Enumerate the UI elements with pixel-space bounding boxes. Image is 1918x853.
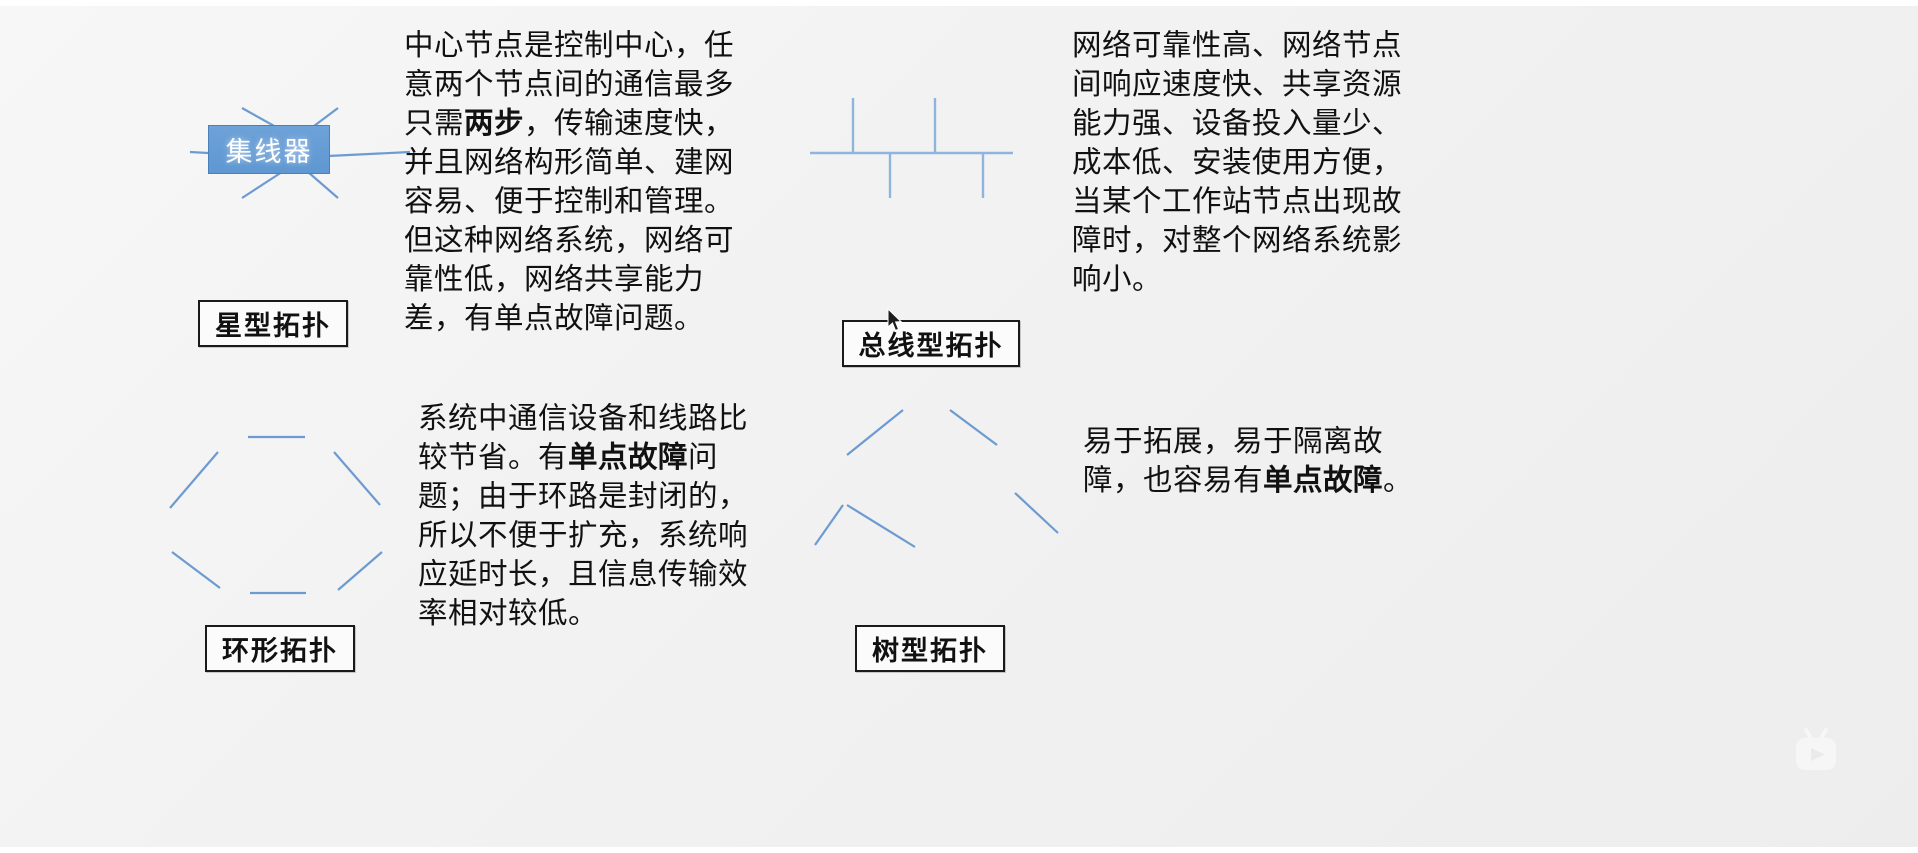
tree-topology-panel <box>775 365 1085 625</box>
tree-node-leaf-2 <box>873 545 935 599</box>
star-node-top-right <box>268 35 330 89</box>
emphasis-text: 两步 <box>464 108 524 140</box>
ring-topology-description: 系统中通信设备和线路比较节省。有单点故障问题；由于环路是封闭的，所以不便于扩充，… <box>418 400 758 634</box>
video-play-watermark-icon <box>1784 720 1848 784</box>
ring-node-left <box>126 496 188 550</box>
top-letterbox-bar <box>0 0 1918 6</box>
body-text: 。 <box>1383 465 1413 497</box>
bus-node-top-right <box>907 45 963 95</box>
ring-node-top-right <box>280 413 342 467</box>
bus-topology-caption: 总线型拓扑 <box>842 320 1020 367</box>
star-topology-description: 中心节点是控制中心，任意两个节点间的通信最多只需两步，传输速度快，并且网络构形简… <box>404 27 744 339</box>
tree-node-leaf-3 <box>1027 520 1089 574</box>
ring-node-bottom-left <box>188 565 250 619</box>
tree-node-left-branch <box>808 445 870 499</box>
emphasis-text: 单点故障 <box>568 442 688 474</box>
star-node-right <box>335 122 397 176</box>
tree-node-leaf-1 <box>785 537 847 591</box>
bus-node-bottom-right <box>955 190 1011 240</box>
star-topology-caption: 星型拓扑 <box>198 300 348 347</box>
bus-topology-panel <box>805 30 1105 310</box>
star-hub-label: 集线器 <box>226 130 313 169</box>
bus-caption-label: 总线型拓扑 <box>859 324 1004 363</box>
bus-node-bottom-left <box>842 190 898 240</box>
tree-topology-caption: 树型拓扑 <box>855 625 1005 672</box>
bus-node-top-left <box>825 45 881 95</box>
tree-topology-description: 易于拓展，易于隔离故障，也容易有单点故障。 <box>1083 423 1433 501</box>
star-hub-box: 集线器 <box>208 125 330 174</box>
ring-caption-label: 环形拓扑 <box>222 629 338 668</box>
bottom-letterbox-bar <box>0 847 1918 853</box>
tree-caption-label: 树型拓扑 <box>872 629 988 668</box>
ring-node-bottom-right <box>292 565 354 619</box>
bus-topology-description: 网络可靠性高、网络节点间响应速度快、共享资源能力强、设备投入量少、成本低、安装使… <box>1072 27 1412 300</box>
star-node-top-left <box>180 35 242 89</box>
star-caption-label: 星型拓扑 <box>215 304 331 343</box>
ring-node-top-left <box>186 413 248 467</box>
tree-node-root <box>875 370 937 424</box>
ring-topology-caption: 环形拓扑 <box>205 625 355 672</box>
mouse-pointer-icon <box>887 308 905 334</box>
star-node-bottom-right <box>280 187 342 241</box>
body-text: 网络可靠性高、网络节点间响应速度快、共享资源能力强、设备投入量少、成本低、安装使… <box>1072 30 1402 296</box>
ring-node-right <box>350 496 412 550</box>
star-node-left <box>118 122 180 176</box>
emphasis-text: 单点故障 <box>1263 465 1383 497</box>
body-text: ，传输速度快，并且网络构形简单、建网容易、便于控制和管理。但这种网络系统，网络可… <box>404 108 734 335</box>
star-node-bottom-left <box>180 187 242 241</box>
ring-topology-panel <box>110 400 450 730</box>
slide-canvas: 集线器 星型拓扑 中心节点是控制中心，任意两个节点间的通信最多只需两步，传输速度… <box>0 0 1918 853</box>
tree-node-right-branch <box>953 433 1015 487</box>
